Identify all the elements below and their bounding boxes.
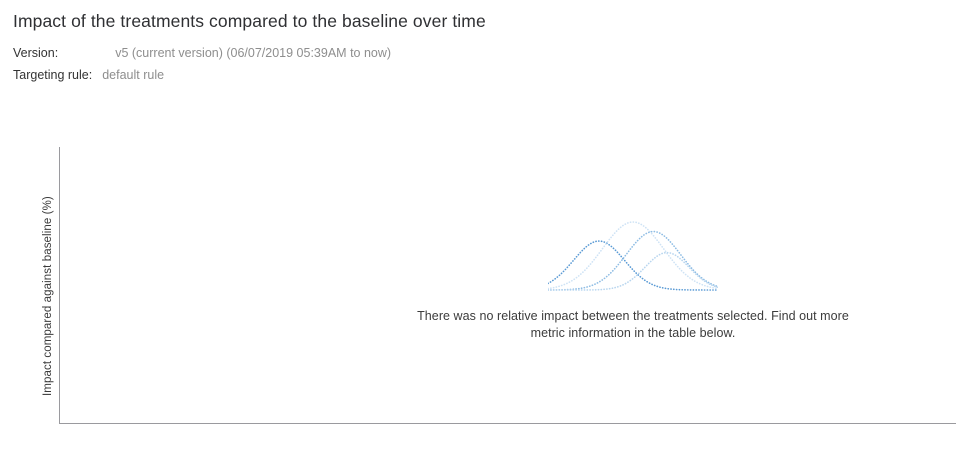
bell-curve-curve-4 bbox=[548, 253, 718, 290]
chart-empty-state: There was no relative impact between the… bbox=[338, 218, 928, 342]
dotted-bell-curves-icon bbox=[548, 218, 718, 294]
impact-chart: Impact compared against baseline (%) The… bbox=[0, 0, 956, 457]
bell-curve-curve-1 bbox=[548, 241, 718, 290]
chart-x-axis-line bbox=[59, 423, 956, 424]
chart-y-axis-line bbox=[59, 147, 60, 424]
chart-y-axis-label: Impact compared against baseline (%) bbox=[42, 196, 54, 396]
chart-empty-message: There was no relative impact between the… bbox=[403, 308, 863, 342]
